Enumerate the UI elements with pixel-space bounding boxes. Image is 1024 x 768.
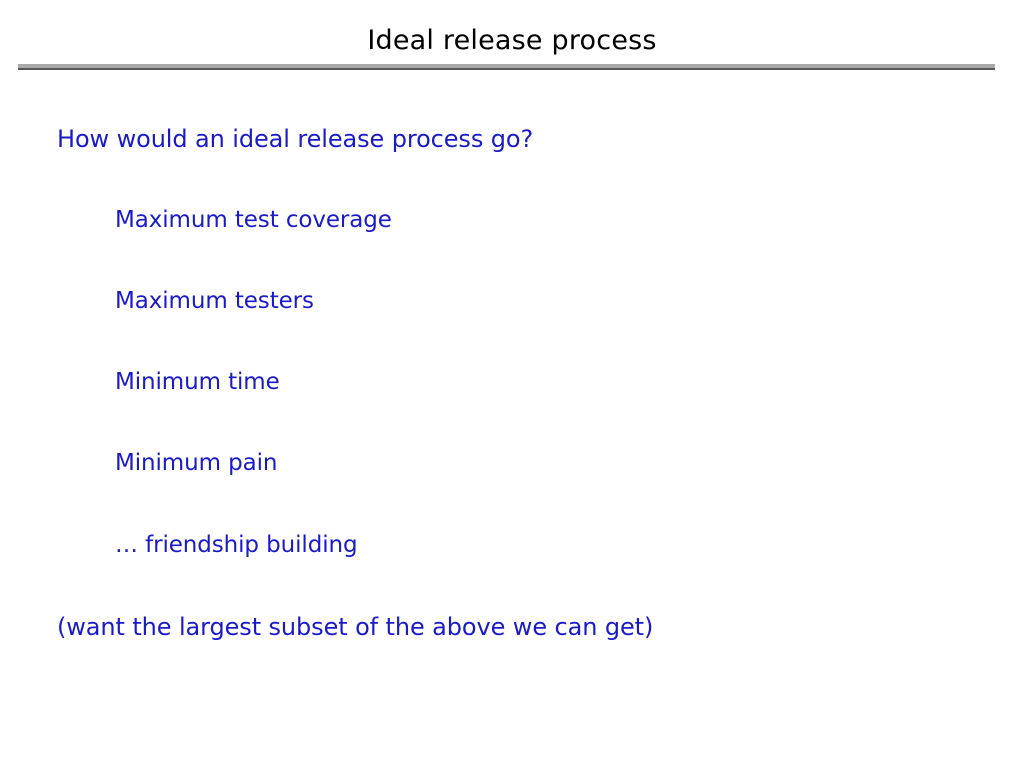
slide-body: How would an ideal release process go? M… bbox=[0, 0, 1024, 768]
body-line-minimum-pain: Minimum pain bbox=[115, 448, 277, 478]
body-line-friendship-building: … friendship building bbox=[115, 530, 357, 560]
body-line-question: How would an ideal release process go? bbox=[57, 124, 533, 154]
body-line-closing-note: (want the largest subset of the above we… bbox=[57, 612, 653, 642]
body-line-minimum-time: Minimum time bbox=[115, 367, 280, 397]
body-line-maximum-testers: Maximum testers bbox=[115, 286, 314, 316]
body-line-maximum-test-coverage: Maximum test coverage bbox=[115, 205, 392, 235]
slide-canvas: Ideal release process How would an ideal… bbox=[0, 0, 1024, 768]
